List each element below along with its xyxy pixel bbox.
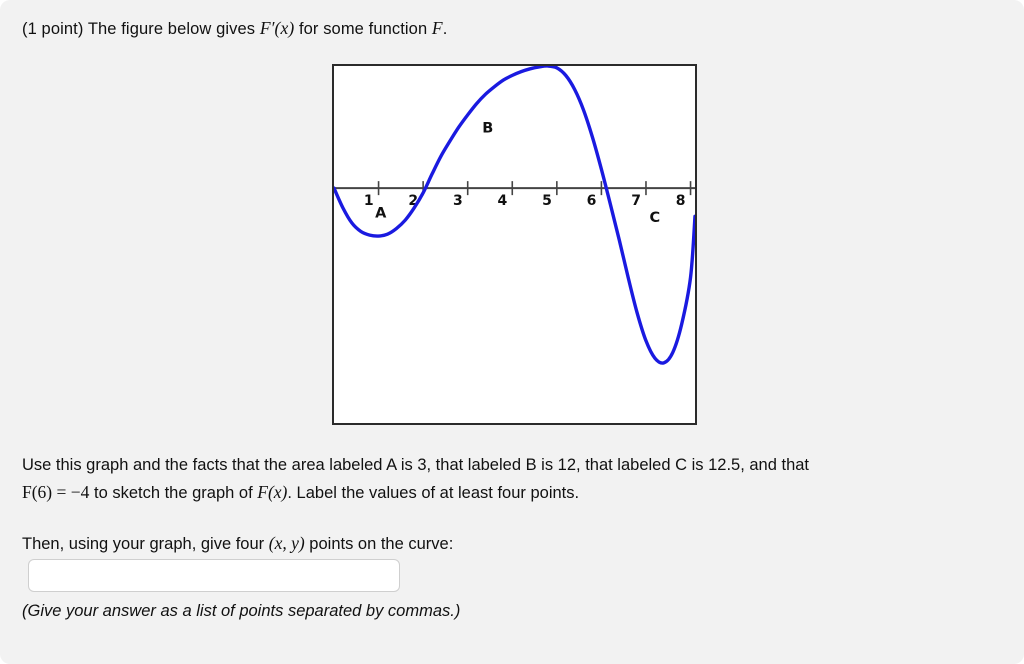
prompt-text-before: The figure below gives [88,20,255,38]
region-label-A: A [375,205,387,221]
math-xy-pair: (x, y) [269,533,305,553]
x-axis-tick-label-5: 5 [542,193,552,209]
region-label-B: B [482,121,493,137]
region-label-C: C [650,210,661,226]
facts-paragraph: Use this graph and the facts that the ar… [22,452,809,507]
region-label-group: ABC [375,121,660,226]
x-axis-tick-label-1: 1 [364,193,374,209]
x-axis-tick-labels: 12345678 [364,193,686,209]
problem-prompt: (1 point) The figure below gives F′(x) f… [22,18,447,39]
math-F-prime-symbol: F [260,18,271,38]
x-axis-tick-label-8: 8 [676,193,686,209]
f-prime-curve [334,66,695,363]
facts-line-2: F(6) = −4 to sketch the graph of F(x). L… [22,479,809,507]
points-label: (1 point) [22,20,83,38]
x-axis-tick-label-3: 3 [453,193,463,209]
answer-format-hint: (Give your answer as a list of points se… [22,602,460,621]
x-axis-tick-label-4: 4 [498,193,508,209]
question-text-before: Then, using your graph, give four [22,535,264,553]
math-F-prime-argument: (x) [275,18,295,38]
facts-line-2-text-b: . Label the values of at least four poin… [287,484,579,502]
math-F-symbol: F [432,18,443,38]
math-F-of-x: F(x) [257,482,287,502]
derivative-graph-svg: 12345678 ABC [334,66,695,423]
answer-input[interactable] [28,559,400,592]
prompt-text-middle: for some function [299,20,427,38]
math-F-of-6-equals: F(6) = −4 [22,482,89,502]
facts-line-2-text-a: to sketch the graph of [94,484,253,502]
problem-page: (1 point) The figure below gives F′(x) f… [0,0,1024,664]
question-text-after: points on the curve: [309,535,453,553]
x-axis-tick-label-6: 6 [587,193,597,209]
x-axis-tick-label-7: 7 [631,193,641,209]
facts-line-1: Use this graph and the facts that the ar… [22,452,809,479]
derivative-graph-figure: 12345678 ABC [332,64,697,425]
question-paragraph: Then, using your graph, give four (x, y)… [22,530,453,558]
prompt-period: . [443,20,448,38]
